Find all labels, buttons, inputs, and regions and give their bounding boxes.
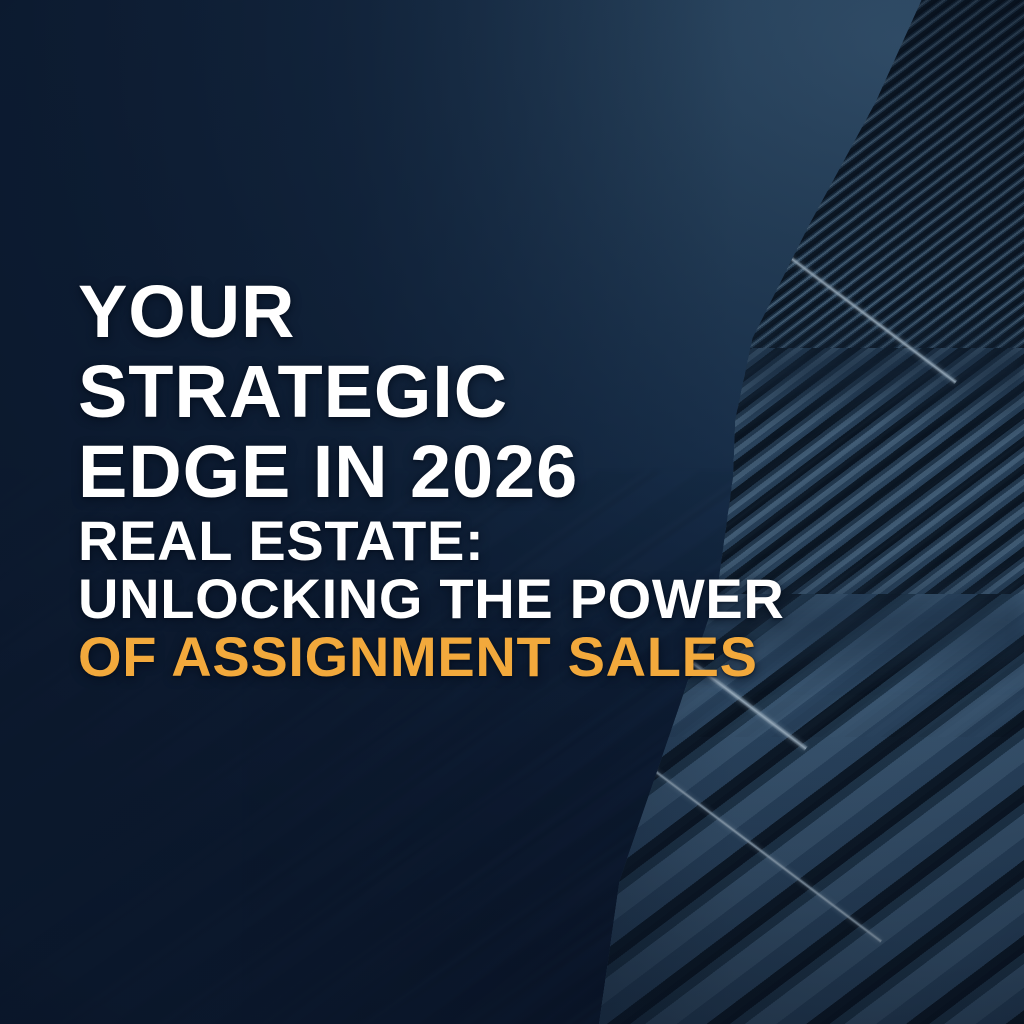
headline-line-6: OF ASSIGNMENT SALES bbox=[78, 628, 778, 686]
headline-line-1: YOUR bbox=[78, 272, 778, 352]
headline-line-5: UNLOCKING THE POWER bbox=[78, 570, 778, 628]
headline-line-3: EDGE IN 2026 bbox=[78, 432, 778, 512]
headline-line-2: STRATEGIC bbox=[78, 352, 778, 432]
headline-line-4: REAL ESTATE: bbox=[78, 512, 778, 570]
promo-poster: YOUR STRATEGIC EDGE IN 2026 REAL ESTATE:… bbox=[0, 0, 1024, 1024]
headline-block: YOUR STRATEGIC EDGE IN 2026 REAL ESTATE:… bbox=[78, 272, 778, 686]
